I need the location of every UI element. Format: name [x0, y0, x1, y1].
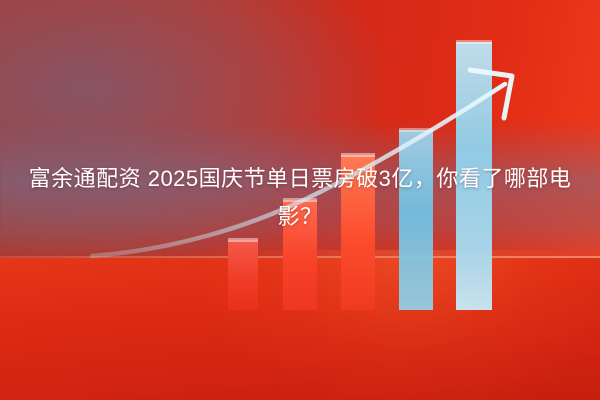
headline-text: 富余通配资 2025国庆节单日票房破3亿，你看了哪部电影？	[0, 160, 600, 236]
bar-highlight	[456, 40, 492, 44]
promo-banner: 富余通配资 2025国庆节单日票房破3亿，你看了哪部电影？	[0, 0, 600, 400]
bar-highlight	[399, 128, 433, 132]
bar-highlight	[341, 153, 375, 157]
chart-bar-1	[228, 240, 258, 310]
bar-highlight	[228, 238, 258, 242]
